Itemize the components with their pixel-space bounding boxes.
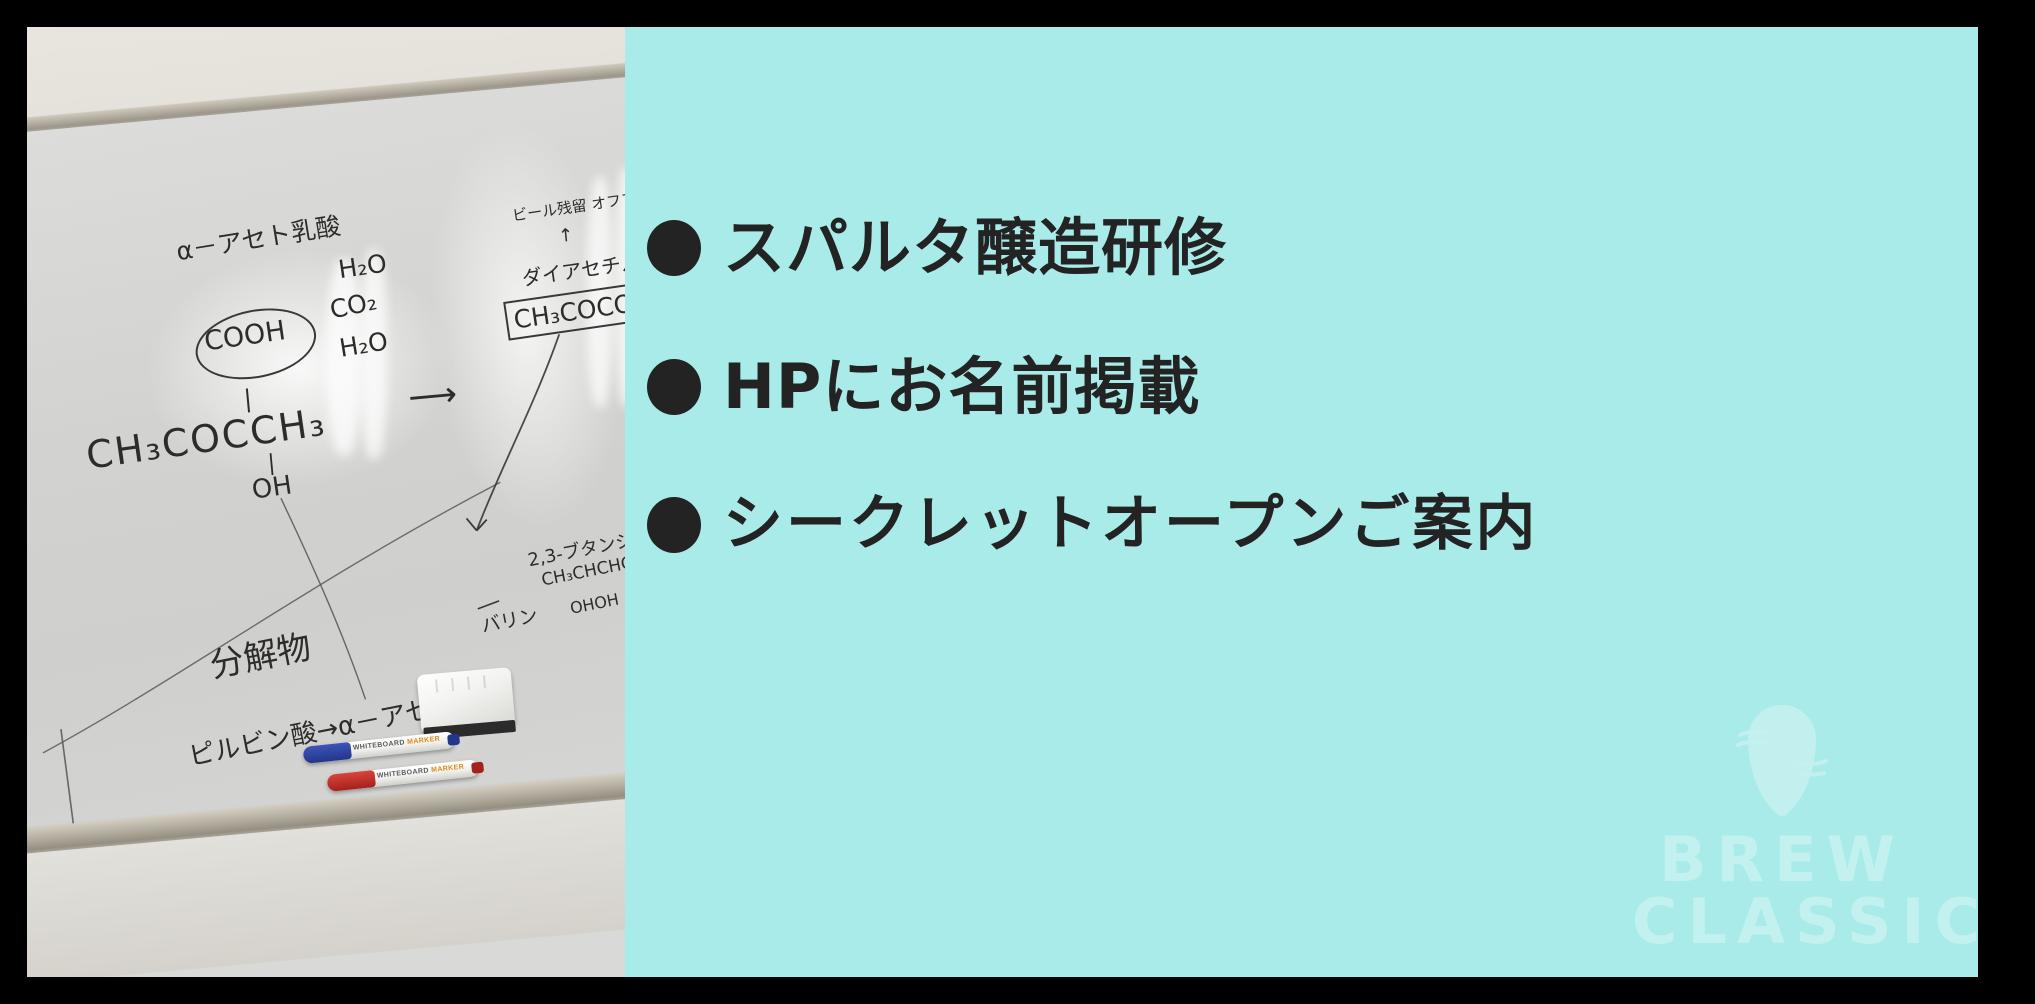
logo-line-brew: BREW — [1632, 829, 1932, 891]
bullet-dot-icon — [647, 220, 701, 276]
bullet-item-3: シークレットオープンご案内 — [647, 493, 1967, 556]
brew-classic-watermark: BREW CLASSIC — [1632, 701, 1932, 953]
bullet-dot-icon — [647, 359, 701, 415]
bullet-label-1: スパルタ醸造研修 — [723, 215, 1227, 280]
slide-canvas: α－アセト乳酸 H₂O COOH CO₂ H₂O | CH₃COCCH₃ | O… — [0, 0, 2035, 1004]
whiteboard-eraser — [417, 667, 516, 733]
bullet-label-3: シークレットオープンご案内 — [723, 493, 1538, 556]
bullet-item-1: スパルタ醸造研修 — [647, 215, 1967, 280]
cyan-content-panel: スパルタ醸造研修 HPにお名前掲載 シークレットオープンご案内 BREW CLA… — [625, 27, 1978, 977]
bullet-dot-icon — [647, 497, 701, 553]
bullet-list: スパルタ醸造研修 HPにお名前掲載 シークレットオープンご案内 — [647, 215, 1967, 630]
whiteboard-photo: α－アセト乳酸 H₂O COOH CO₂ H₂O | CH₃COCCH₃ | O… — [27, 27, 625, 977]
bullet-item-2: HPにお名前掲載 — [647, 354, 1967, 419]
bullet-label-2: HPにお名前掲載 — [723, 354, 1200, 419]
hop-cone-icon — [1736, 701, 1828, 819]
logo-line-classic: CLASSIC — [1632, 891, 1932, 953]
